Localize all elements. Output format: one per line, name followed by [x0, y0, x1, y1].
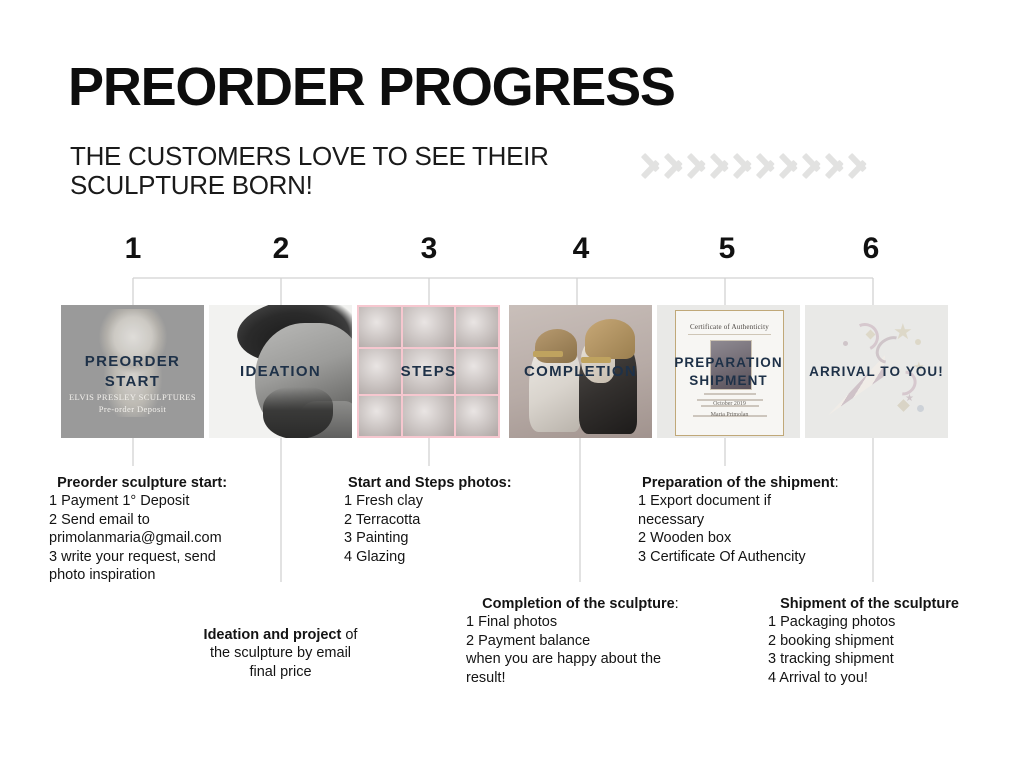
- party-popper-icon: [825, 351, 885, 419]
- step-number-1: 1: [125, 232, 142, 266]
- collage-cell: [403, 396, 455, 436]
- collage-cell: [403, 307, 455, 347]
- note-line: 1 Payment 1° Deposit: [49, 492, 299, 510]
- chevron-right-icon: [847, 142, 873, 186]
- certificate-divider: [688, 334, 771, 335]
- step-number-2: 2: [273, 232, 290, 266]
- note-line: 1 Fresh clay: [344, 492, 594, 510]
- caption-line-1: ELVIS PRESLEY SCULPTURES: [69, 392, 196, 402]
- note-line: 1 Final photos: [466, 613, 726, 631]
- certificate-text-line: [704, 393, 756, 395]
- note-line: photo inspiration: [49, 566, 299, 584]
- star-icon: ★: [893, 319, 913, 345]
- collage-cell: [456, 396, 498, 436]
- note-heading-tail: of: [341, 627, 357, 643]
- confetti-dot: [917, 405, 924, 412]
- step-card-completion[interactable]: COMPLETION: [509, 305, 652, 438]
- note-line: 2 Payment balance: [466, 632, 726, 650]
- note-heading: Preparation of the shipment:: [638, 474, 918, 492]
- note-line: when you are happy about the: [466, 650, 726, 668]
- note-line: 1 Packaging photos: [768, 613, 1018, 631]
- note-heading: Start and Steps photos:: [344, 474, 594, 492]
- bust-white-hair: [535, 329, 577, 363]
- confetti-dot: [843, 341, 848, 346]
- note-line: 2 Terracotta: [344, 511, 594, 529]
- note-heading-tail: :: [675, 596, 679, 612]
- note-heading-text: Start and Steps photos:: [348, 475, 512, 491]
- card-label-preparation-shipment: PREPARATION SHIPMENT: [657, 353, 800, 389]
- note-line: primolanmaria@gmail.com: [49, 529, 299, 547]
- note-heading: Shipment of the sculpture: [768, 595, 1018, 613]
- confetti-dot: [915, 339, 921, 345]
- note-heading: Completion of the sculpture:: [466, 595, 726, 613]
- sunglasses-icon: [533, 351, 563, 357]
- note-heading: Ideation and project of: [178, 626, 383, 644]
- note-heading-text: Completion of the sculpture: [482, 596, 675, 612]
- step-card-arrival-to-you[interactable]: ★ ★ ★ ARRIVAL TO YOU!: [805, 305, 948, 438]
- step-card-preorder-start[interactable]: PREORDER START ELVIS PRESLEY SCULPTURES …: [61, 305, 204, 438]
- certificate-signature: October 2019 Maria Primolan: [676, 399, 783, 421]
- note-preorder-start: Preorder sculpture start: 1 Payment 1° D…: [49, 474, 299, 584]
- step-card-preparation-shipment[interactable]: Certificate of Authenticity October 2019…: [657, 305, 800, 438]
- note-line: 2 Send email to: [49, 511, 299, 529]
- page-subtitle: THE CUSTOMERS LOVE TO SEE THEIR SCULPTUR…: [70, 142, 630, 200]
- page-title: PREORDER PROGRESS: [68, 56, 675, 118]
- certificate-date: October 2019: [713, 401, 746, 407]
- card-label-completion: COMPLETION: [509, 361, 652, 381]
- note-start-and-steps: Start and Steps photos: 1 Fresh clay 2 T…: [344, 474, 594, 566]
- note-line: 4 Arrival to you!: [768, 669, 1018, 687]
- note-line: 3 Certificate Of Authencity: [638, 548, 918, 566]
- step-card-ideation[interactable]: IDEATION: [209, 305, 352, 438]
- certificate-signer: Maria Primolan: [711, 412, 749, 418]
- note-heading-tail: :: [835, 475, 839, 491]
- note-heading-text: Shipment of the sculpture: [780, 596, 959, 612]
- note-line: the sculpture by email: [178, 644, 383, 662]
- note-line: necessary: [638, 511, 918, 529]
- card-label-ideation: IDEATION: [209, 361, 352, 381]
- note-heading: Preorder sculpture start:: [49, 474, 299, 492]
- note-line: 3 tracking shipment: [768, 650, 1018, 668]
- caption-line-2: Pre-order Deposit: [99, 404, 166, 414]
- note-preparation-shipment: Preparation of the shipment: 1 Export do…: [638, 474, 918, 566]
- card-label-steps: STEPS: [357, 361, 500, 381]
- note-completion: Completion of the sculpture: 1 Final pho…: [466, 595, 726, 687]
- note-line: final price: [178, 663, 383, 681]
- note-shipment: Shipment of the sculpture 1 Packaging ph…: [768, 595, 1018, 687]
- note-line: 2 Wooden box: [638, 529, 918, 547]
- note-line: 2 booking shipment: [768, 632, 1018, 650]
- note-heading-text: Preorder sculpture start:: [57, 475, 227, 491]
- step-number-5: 5: [719, 232, 736, 266]
- card-label-arrival-to-you: ARRIVAL TO YOU!: [805, 362, 948, 380]
- note-line: 3 Painting: [344, 529, 594, 547]
- note-line: result!: [466, 669, 726, 687]
- slide-canvas: PREORDER PROGRESS THE CUSTOMERS LOVE TO …: [0, 0, 1024, 768]
- step-number-3: 3: [421, 232, 438, 266]
- chevron-arrows-decoration: [640, 138, 960, 190]
- note-heading-text: Ideation and project: [204, 627, 342, 643]
- note-heading-text: Preparation of the shipment: [642, 475, 835, 491]
- step-card-steps[interactable]: STEPS: [357, 305, 500, 438]
- note-line: 4 Glazing: [344, 548, 594, 566]
- bust-black-hair: [585, 319, 635, 359]
- collage-cell: [359, 396, 401, 436]
- card-caption-preorder: ELVIS PRESLEY SCULPTURES Pre-order Depos…: [61, 391, 204, 417]
- certificate-title: Certificate of Authenticity: [676, 323, 783, 331]
- note-ideation-project: Ideation and project of the sculpture by…: [178, 626, 383, 681]
- beard-shape: [263, 387, 333, 438]
- note-line: 3 write your request, send: [49, 548, 299, 566]
- card-label-preorder-start: PREORDER START: [61, 351, 204, 392]
- note-line: 1 Export document if: [638, 492, 918, 510]
- collage-cell: [456, 307, 498, 347]
- step-number-6: 6: [863, 232, 880, 266]
- step-number-4: 4: [573, 232, 590, 266]
- collage-cell: [359, 307, 401, 347]
